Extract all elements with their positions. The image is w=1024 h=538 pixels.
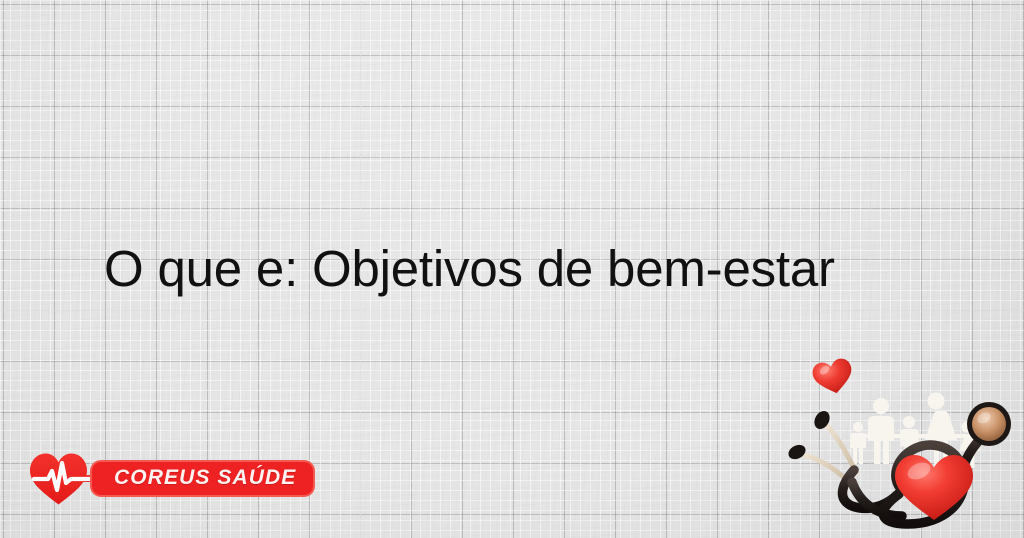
health-artwork	[768, 348, 1024, 538]
health-family-stethoscope-illustration	[768, 348, 1024, 538]
small-heart-icon	[811, 357, 856, 397]
slide-title: O que e: Objetivos de bem-estar	[104, 238, 964, 300]
stethoscope-chestpiece	[967, 402, 1011, 446]
slide-canvas: O que e: Objetivos de bem-estar COREUS S…	[0, 0, 1024, 538]
brand-logo: COREUS SAÚDE	[28, 450, 315, 506]
brand-name-badge: COREUS SAÚDE	[90, 460, 315, 497]
brand-name-label: COREUS SAÚDE	[114, 466, 296, 490]
